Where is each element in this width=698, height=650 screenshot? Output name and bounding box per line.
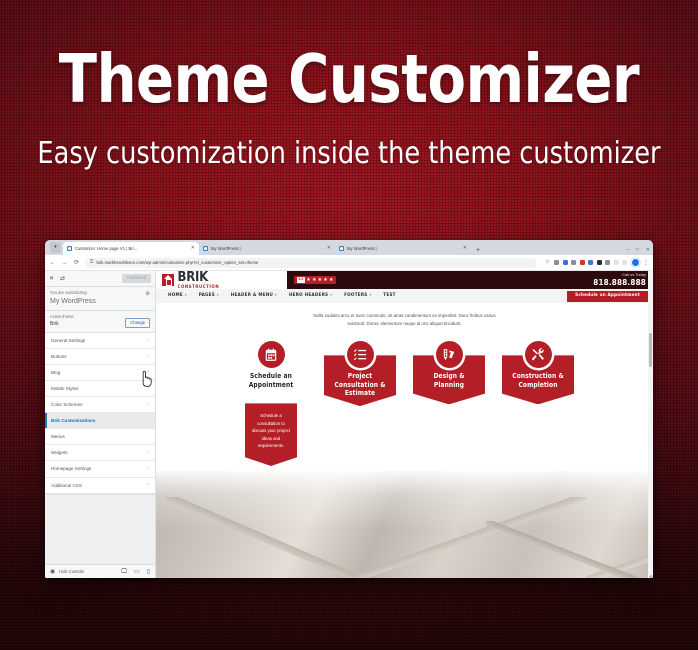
- chevron-down-icon: ▾: [330, 294, 332, 297]
- nav-label: HEADER & MENU: [231, 294, 273, 299]
- sidebar-item-label: Blog: [51, 370, 60, 375]
- extension-icon[interactable]: [563, 260, 568, 265]
- tools-icon: [525, 341, 552, 368]
- promo-banner: Theme Customizer Easy customization insi…: [0, 0, 698, 650]
- sidebar-item-label: Mobile Styles: [51, 386, 78, 391]
- browser-tab-2[interactable]: My WordPress | ✕: [335, 242, 471, 255]
- sidebar-item-homepage-settings[interactable]: Homepage Settings ›: [45, 461, 155, 477]
- logo-name: BRIK: [178, 271, 209, 285]
- schedule-appointment-button[interactable]: Schedule an Appointment: [567, 291, 648, 302]
- nav-label: PAGES: [199, 294, 215, 299]
- nav-item-home[interactable]: HOME ▾: [162, 294, 193, 299]
- browser-tab-strip: ▾ Customize: Home page V1 | Bri... ✕ My …: [45, 240, 653, 255]
- process-steps: Schedule an Appointment Schedule a consu…: [156, 341, 653, 466]
- hide-controls-label[interactable]: Hide Controls: [59, 570, 84, 574]
- sidebar-item-label: Additional CSS: [51, 483, 82, 488]
- browser-toolbar: ← → ⟳ ⚿ brik.markhendriksen.com/wp-admin…: [45, 255, 653, 271]
- browser-tab-label: My WordPress |: [211, 246, 241, 251]
- minimize-icon[interactable]: –: [626, 248, 629, 253]
- customizing-label: You are customizing: [50, 291, 150, 295]
- step-title: Schedule an Appointment: [240, 372, 302, 388]
- site-utility-bar: 5.0 ★ ★ ★ ★ ★ Call us Today 818.888.: [287, 271, 653, 289]
- customizer-panel-list: General Settings › Buttons › Blog › Mobi…: [45, 333, 155, 495]
- browser-viewport: ✕ ⇄ Published You are customizing My Wor…: [45, 271, 653, 578]
- device-preview-group: 🖵 ▭ ▯: [121, 569, 150, 575]
- site-topbar: BRIK CONSTRUCTION 5.0 ★ ★ ★ ★: [156, 271, 653, 289]
- chevron-right-icon: ›: [147, 402, 149, 407]
- back-icon[interactable]: ←: [49, 260, 56, 266]
- sidebar-item-buttons[interactable]: Buttons ›: [45, 349, 155, 365]
- profile-icon[interactable]: [580, 260, 585, 265]
- forward-icon[interactable]: →: [61, 260, 68, 266]
- clock-icon[interactable]: [605, 260, 610, 265]
- browser-tab-1[interactable]: My WordPress | ✕: [199, 242, 335, 255]
- site-navigation: HOME ▾ PAGES ▾ HEADER & MENU ▾ HERO HEAD…: [156, 289, 653, 303]
- rating-score: 5.0: [297, 277, 305, 283]
- favicon-icon: [67, 246, 72, 251]
- chevron-right-icon: ›: [147, 354, 149, 359]
- sidebar-item-widgets[interactable]: Widgets ›: [45, 445, 155, 461]
- sidebar-item-label: Brik Customizations: [51, 418, 95, 423]
- nav-label: HOME: [168, 294, 183, 299]
- star-icon[interactable]: ☆: [545, 260, 551, 265]
- calendar-icon: [258, 341, 285, 368]
- browser-menu-icon[interactable]: ⋮: [643, 260, 649, 266]
- phone-number[interactable]: 818.888.888: [593, 279, 646, 287]
- sidebar-item-additional-css[interactable]: Additional CSS ›: [45, 478, 155, 494]
- tab-search-icon[interactable]: ▾: [50, 242, 61, 253]
- step-card-4[interactable]: Construction & Completion: [502, 341, 574, 466]
- star-icon: ★: [323, 278, 327, 283]
- resize-handle[interactable]: ◢: [649, 574, 652, 578]
- collapse-icon[interactable]: ⇄: [60, 276, 65, 282]
- step-title: Design & Planning: [418, 372, 480, 388]
- intro-line-1: Nulla sodales arcu et nunc commodo, sit …: [204, 312, 605, 320]
- tablet-icon[interactable]: ▭: [134, 569, 140, 575]
- customizer-header: ✕ ⇄ Published: [45, 271, 155, 287]
- address-bar[interactable]: ⚿ brik.markhendriksen.com/wp-admin/custo…: [85, 258, 537, 268]
- sidebar-item-brik-customizations[interactable]: Brik Customizations: [45, 413, 155, 429]
- sidebar-item-label: Menus: [51, 434, 65, 439]
- customizer-footer: ◉ Hide Controls 🖵 ▭ ▯: [45, 564, 155, 578]
- chevron-right-icon: ›: [147, 450, 149, 455]
- mouse-cursor-icon: [139, 370, 155, 388]
- chevron-down-icon: ▾: [185, 294, 187, 297]
- sidebar-item-label: Buttons: [51, 354, 67, 359]
- page-title: Theme Customizer: [24, 46, 673, 113]
- avatar[interactable]: [631, 258, 640, 267]
- nav-label: FOOTERS: [344, 294, 367, 299]
- chevron-down-icon: ▾: [275, 294, 277, 297]
- nav-item-header-menu[interactable]: HEADER & MENU ▾: [225, 294, 283, 299]
- favicon-icon: [203, 246, 208, 251]
- nav-item-footers[interactable]: FOOTERS ▾: [338, 294, 377, 299]
- step-title: Project Consultation & Estimate: [329, 372, 391, 397]
- site-preview: BRIK CONSTRUCTION 5.0 ★ ★ ★ ★: [156, 271, 653, 578]
- call-label: Call us Today: [593, 273, 646, 277]
- app-icon[interactable]: [588, 260, 593, 265]
- rating-badge: 5.0 ★ ★ ★ ★ ★: [294, 276, 336, 285]
- window-controls: – □ ✕: [626, 248, 650, 253]
- star-icon: ★: [329, 278, 333, 283]
- intro-copy: Nulla sodales arcu et nunc commodo, sit …: [156, 303, 653, 327]
- new-tab-button[interactable]: +: [476, 247, 480, 254]
- contact-block: Call us Today 818.888.888: [593, 273, 646, 287]
- close-icon[interactable]: ✕: [49, 276, 54, 282]
- close-icon[interactable]: ✕: [191, 246, 195, 251]
- intro-line-2: euismod. Donec elementum neque id orci a…: [204, 320, 605, 328]
- hide-controls-icon[interactable]: ◉: [50, 569, 55, 575]
- star-icon: ★: [306, 278, 310, 283]
- close-icon[interactable]: ✕: [463, 246, 467, 251]
- step-card-2[interactable]: Project Consultation & Estimate: [324, 341, 396, 466]
- browser-tab-label: My WordPress |: [347, 246, 377, 251]
- nav-item-pages[interactable]: PAGES ▾: [193, 294, 225, 299]
- browser-tab-0[interactable]: Customize: Home page V1 | Bri... ✕: [63, 242, 199, 255]
- chevron-right-icon: ›: [147, 483, 149, 488]
- customizer-sidebar: ✕ ⇄ Published You are customizing My Wor…: [45, 271, 156, 578]
- site-title: My WordPress: [50, 298, 150, 305]
- nav-item-hero-headers[interactable]: HERO HEADERS ▾: [283, 294, 338, 299]
- house-logo-icon: [161, 273, 175, 287]
- active-theme-label: Active theme: [50, 315, 74, 319]
- chevron-down-icon: ▾: [217, 294, 219, 297]
- home-icon[interactable]: [554, 260, 559, 265]
- reload-icon[interactable]: ⟳: [73, 260, 80, 266]
- step-description: Schedule a consultation to discuss your …: [245, 403, 297, 466]
- preview-scrollbar[interactable]: [648, 271, 653, 578]
- favicon-icon: [339, 246, 344, 251]
- browser-window: ▾ Customize: Home page V1 | Bri... ✕ My …: [45, 240, 653, 578]
- sidebar-item-label: Color Schemes: [51, 402, 82, 407]
- maximize-icon[interactable]: □: [636, 248, 639, 253]
- sidebar-item-general-settings[interactable]: General Settings ›: [45, 333, 155, 349]
- palette-icon: [436, 341, 463, 368]
- gear-icon[interactable]: ⚙: [146, 292, 150, 297]
- toolbar-icons: ☆ ⋮: [542, 258, 650, 267]
- site-logo[interactable]: BRIK CONSTRUCTION: [161, 271, 219, 291]
- star-rating: ★ ★ ★ ★ ★: [306, 278, 333, 283]
- sidebar-item-label: General Settings: [51, 338, 85, 343]
- close-icon[interactable]: ✕: [327, 246, 331, 251]
- sidebar-item-menus[interactable]: Menus: [45, 429, 155, 445]
- browser-tab-label: Customize: Home page V1 | Bri...: [75, 246, 137, 251]
- sidebar-item-color-schemes[interactable]: Color Schemes ›: [45, 397, 155, 413]
- sidebar-item-label: Homepage Settings: [51, 466, 91, 471]
- bookmark-icon[interactable]: [614, 260, 619, 265]
- star-icon: ★: [318, 278, 322, 283]
- step-title: Construction & Completion: [507, 372, 569, 388]
- desktop-icon[interactable]: 🖵: [121, 569, 127, 575]
- sync-icon[interactable]: [571, 260, 576, 265]
- change-theme-button[interactable]: Change: [125, 318, 150, 328]
- active-theme-row: Active theme Brik Change: [45, 311, 155, 333]
- publish-button[interactable]: Published: [122, 274, 151, 282]
- step-card-3[interactable]: Design & Planning: [413, 341, 485, 466]
- checklist-icon: [347, 341, 374, 368]
- step-card-1[interactable]: Schedule an Appointment Schedule a consu…: [235, 341, 307, 466]
- page-subtitle: Easy customization inside the theme cust…: [17, 139, 680, 169]
- customizing-info: You are customizing My WordPress ⚙: [45, 287, 155, 311]
- chevron-right-icon: ›: [147, 466, 149, 471]
- sidebar-item-label: Widgets: [51, 450, 68, 455]
- sidebar-filler: [45, 495, 155, 564]
- split-icon[interactable]: [622, 260, 627, 265]
- hero-text-block: Theme Customizer Easy customization insi…: [0, 46, 698, 169]
- star-icon: ★: [312, 278, 316, 283]
- house-background-image: [156, 471, 653, 578]
- nav-label: HERO HEADERS: [289, 294, 328, 299]
- lock-icon: ⚿: [90, 260, 93, 265]
- note-icon[interactable]: [597, 260, 602, 265]
- nav-label: TEST: [383, 294, 395, 299]
- scrollbar-thumb[interactable]: [649, 333, 652, 367]
- chevron-right-icon: ›: [147, 338, 149, 343]
- url-text: brik.markhendriksen.com/wp-admin/customi…: [96, 260, 258, 265]
- nav-item-test[interactable]: TEST: [377, 294, 401, 299]
- active-theme-value: Brik: [50, 322, 74, 327]
- chevron-down-icon: ▾: [370, 294, 372, 297]
- mobile-icon[interactable]: ▯: [147, 569, 150, 575]
- window-close-icon[interactable]: ✕: [646, 248, 650, 253]
